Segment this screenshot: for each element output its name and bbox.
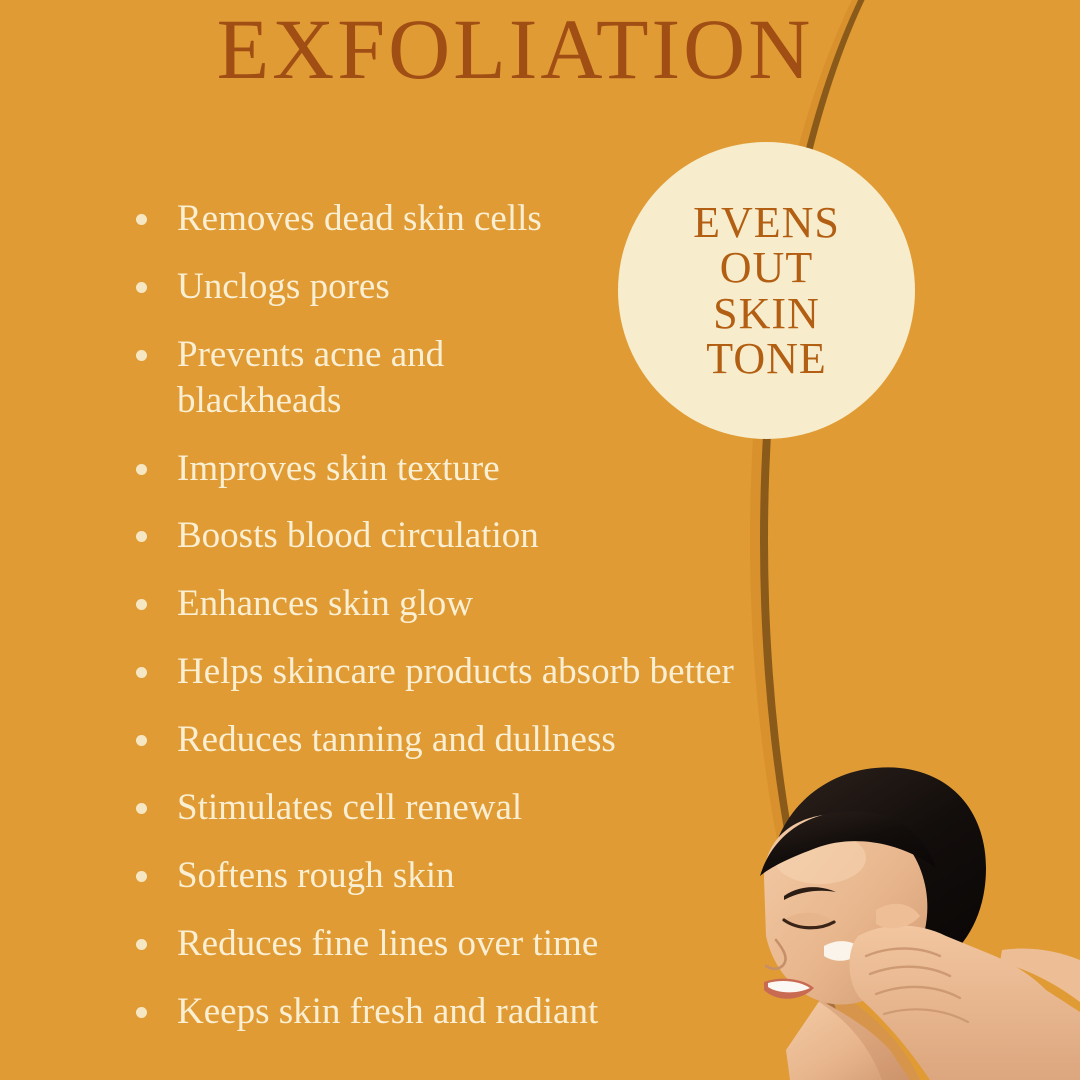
- bullet-dot-icon: [136, 214, 147, 225]
- list-item-label: Boosts blood circulation: [177, 513, 539, 559]
- bullet-dot-icon: [136, 531, 147, 542]
- list-item-label: Enhances skin glow: [177, 581, 473, 627]
- list-item-label: Helps skincare products absorb better: [177, 649, 734, 695]
- list-item-label: Improves skin texture: [177, 446, 500, 492]
- bullet-dot-icon: [136, 1007, 147, 1018]
- badge-line-2: OUT: [720, 245, 813, 290]
- bullet-dot-icon: [136, 599, 147, 610]
- bullet-dot-icon: [136, 871, 147, 882]
- bullet-dot-icon: [136, 735, 147, 746]
- list-item: Helps skincare products absorb better: [136, 649, 936, 695]
- bullet-dot-icon: [136, 464, 147, 475]
- page-title: EXFOLIATION: [0, 6, 1030, 92]
- bullet-dot-icon: [136, 350, 147, 361]
- list-item: Boosts blood circulation: [136, 513, 936, 559]
- list-item-label: Prevents acne and blackheads: [177, 332, 537, 424]
- model-photo: [750, 750, 1080, 1080]
- bullet-dot-icon: [136, 667, 147, 678]
- list-item-label: Reduces fine lines over time: [177, 921, 598, 967]
- list-item-label: Removes dead skin cells: [177, 196, 542, 242]
- list-item-label: Stimulates cell renewal: [177, 785, 522, 831]
- list-item-label: Keeps skin fresh and radiant: [177, 989, 598, 1035]
- status-badge: EVENS OUT SKIN TONE: [618, 142, 915, 439]
- list-item-label: Unclogs pores: [177, 264, 390, 310]
- badge-line-4: TONE: [706, 336, 827, 381]
- woman-applying-cream-illustration: [750, 750, 1080, 1080]
- list-item-label: Softens rough skin: [177, 853, 455, 899]
- badge-line-3: SKIN: [713, 291, 820, 336]
- bullet-dot-icon: [136, 939, 147, 950]
- exfoliation-infographic: EXFOLIATION EVENS OUT SKIN TONE Removes …: [0, 0, 1080, 1080]
- list-item: Enhances skin glow: [136, 581, 936, 627]
- list-item: Improves skin texture: [136, 446, 936, 492]
- badge-line-1: EVENS: [693, 200, 840, 245]
- bullet-dot-icon: [136, 282, 147, 293]
- list-item-label: Reduces tanning and dullness: [177, 717, 616, 763]
- bullet-dot-icon: [136, 803, 147, 814]
